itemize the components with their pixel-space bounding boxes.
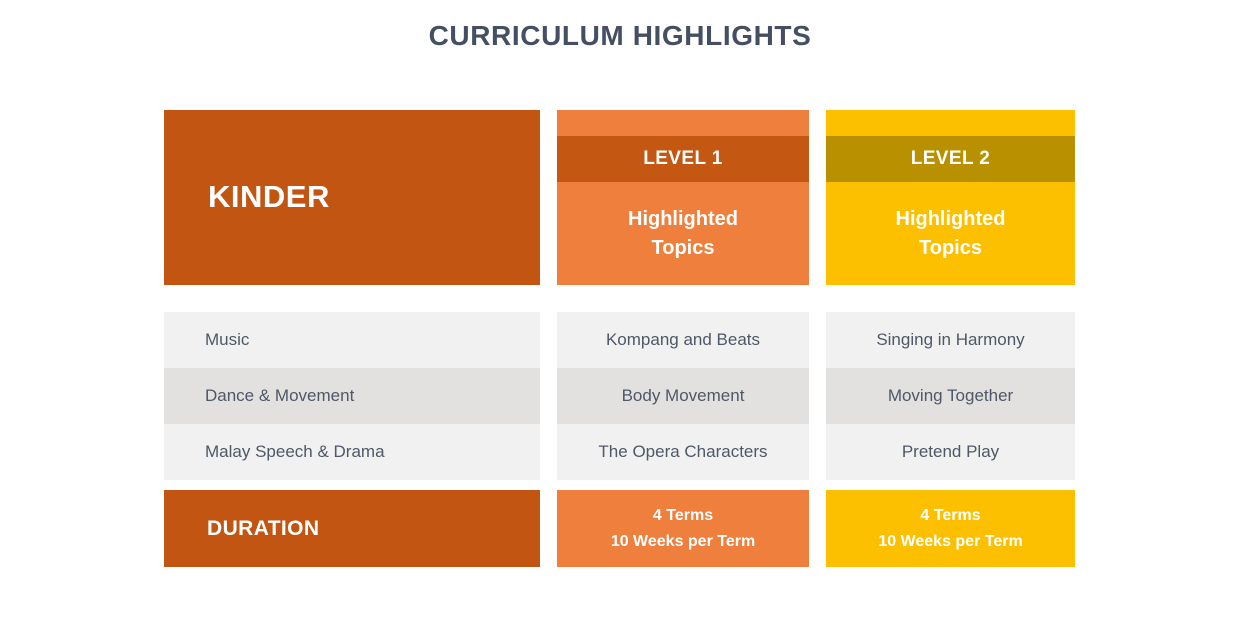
table-row: Music Kompang and Beats Singing in Harmo… xyxy=(164,312,1075,368)
column-gap xyxy=(809,312,826,368)
level-2-topics: Highlighted Topics xyxy=(826,182,1075,285)
cell-level-2-topic: Pretend Play xyxy=(826,424,1075,480)
header-cell-kinder: KINDER xyxy=(164,110,540,285)
level-2-band: LEVEL 2 xyxy=(826,136,1075,182)
footer-cell-duration-label: DURATION xyxy=(164,490,540,567)
cell-level-1-topic: Body Movement xyxy=(557,368,809,424)
level-1-topics-label: Highlighted Topics xyxy=(628,205,738,262)
level-2-label: LEVEL 2 xyxy=(911,148,991,170)
column-gap xyxy=(540,110,557,285)
footer-cell-level-2-duration: 4 Terms 10 Weeks per Term xyxy=(826,490,1075,567)
column-gap xyxy=(540,490,557,567)
level-1-label: LEVEL 1 xyxy=(643,148,723,170)
cell-subject: Dance & Movement xyxy=(164,368,540,424)
level-1-duration-value: 4 Terms 10 Weeks per Term xyxy=(611,503,755,554)
column-gap xyxy=(540,424,557,480)
column-gap xyxy=(540,312,557,368)
header-cell-level-2: LEVEL 2 Highlighted Topics xyxy=(826,110,1075,285)
header-content-spacer xyxy=(164,285,1075,312)
cell-subject: Malay Speech & Drama xyxy=(164,424,540,480)
column-gap xyxy=(809,424,826,480)
column-gap xyxy=(809,490,826,567)
header-top-strip xyxy=(557,110,809,136)
cell-level-1-topic: The Opera Characters xyxy=(557,424,809,480)
header-cell-level-1: LEVEL 1 Highlighted Topics xyxy=(557,110,809,285)
level-2-topics-label: Highlighted Topics xyxy=(896,205,1006,262)
duration-label: DURATION xyxy=(207,517,319,541)
column-gap xyxy=(809,110,826,285)
table-header-row: KINDER LEVEL 1 Highlighted Topics LEVEL … xyxy=(164,110,1075,285)
curriculum-table: KINDER LEVEL 1 Highlighted Topics LEVEL … xyxy=(164,110,1075,567)
cell-subject: Music xyxy=(164,312,540,368)
header-top-strip xyxy=(826,110,1075,136)
cell-level-2-topic: Moving Together xyxy=(826,368,1075,424)
cell-level-1-topic: Kompang and Beats xyxy=(557,312,809,368)
column-gap xyxy=(809,368,826,424)
column-gap xyxy=(540,368,557,424)
content-footer-spacer xyxy=(164,480,1075,490)
level-1-topics: Highlighted Topics xyxy=(557,182,809,285)
table-footer-row: DURATION 4 Terms 10 Weeks per Term 4 Ter… xyxy=(164,490,1075,567)
table-row: Malay Speech & Drama The Opera Character… xyxy=(164,424,1075,480)
level-1-band: LEVEL 1 xyxy=(557,136,809,182)
page-title: CURRICULUM HIGHLIGHTS xyxy=(0,20,1240,52)
footer-cell-level-1-duration: 4 Terms 10 Weeks per Term xyxy=(557,490,809,567)
curriculum-highlights-page: CURRICULUM HIGHLIGHTS KINDER LEVEL 1 Hig… xyxy=(0,0,1240,638)
cell-level-2-topic: Singing in Harmony xyxy=(826,312,1075,368)
level-2-duration-value: 4 Terms 10 Weeks per Term xyxy=(878,503,1022,554)
table-row: Dance & Movement Body Movement Moving To… xyxy=(164,368,1075,424)
kinder-label: KINDER xyxy=(208,180,540,214)
